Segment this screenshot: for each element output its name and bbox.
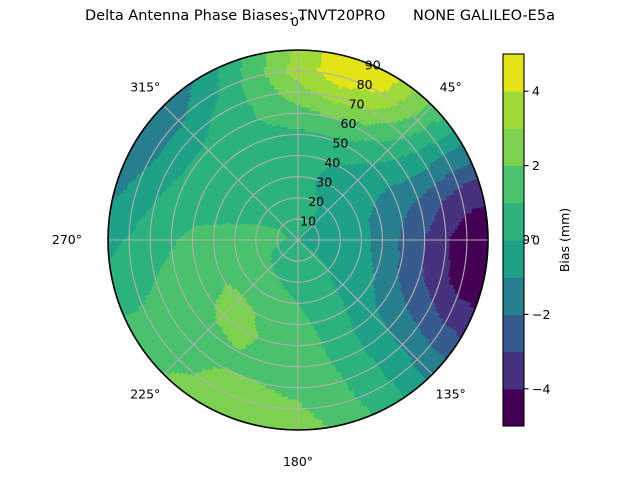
- figure-canvas: Delta Antenna Phase Biases: TNVT20PRO NO…: [0, 0, 640, 480]
- polar-plot: 0°45°90°135°180°225°270°315° 10203040506…: [0, 0, 640, 480]
